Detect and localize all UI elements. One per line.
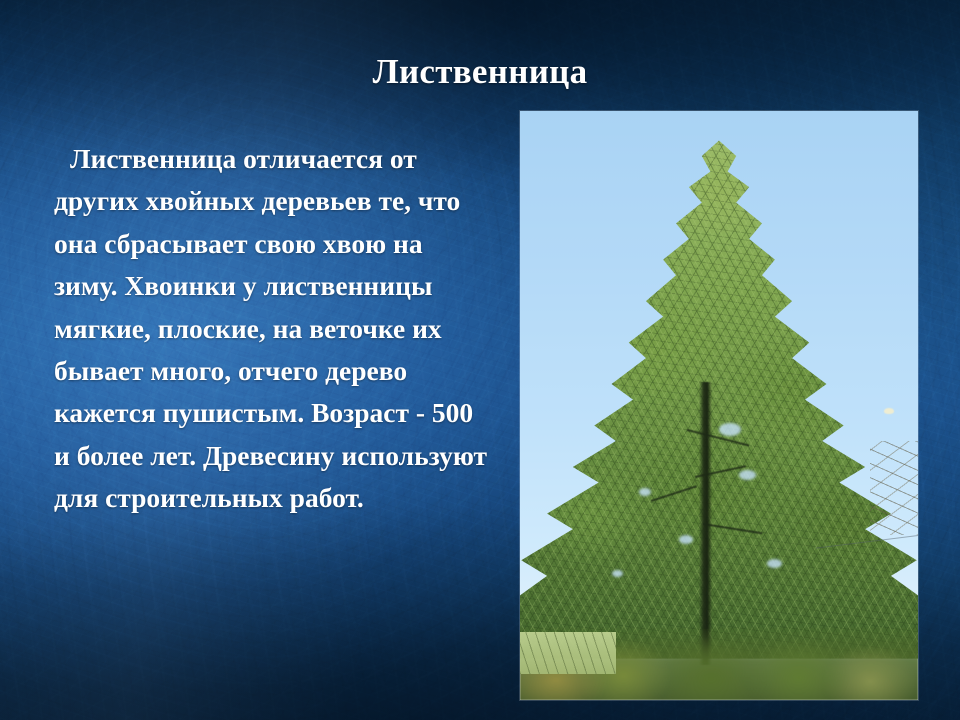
presentation-slide: Лиственница Лиственница отличается от др…	[0, 0, 960, 720]
slide-title: Лиственница	[0, 52, 960, 92]
bare-twig	[870, 441, 918, 535]
green-fence	[520, 632, 616, 673]
tree-photo	[520, 111, 918, 700]
canopy-sky-gap	[767, 559, 782, 568]
slide-body-text: Лиственница отличается от других хвойных…	[54, 138, 488, 520]
